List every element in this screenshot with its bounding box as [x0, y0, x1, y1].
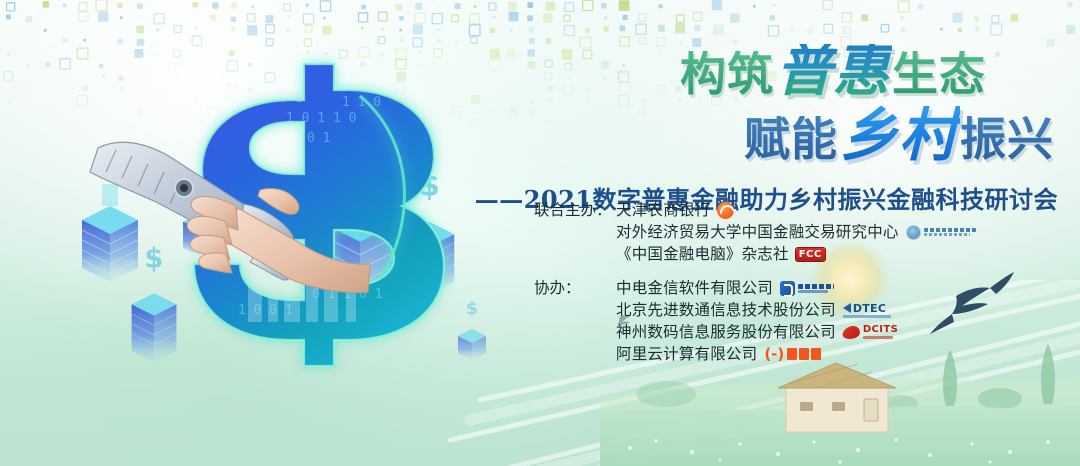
tjrcb-spiral-logo	[717, 202, 734, 219]
fcc-logo-text: FCC	[799, 249, 822, 260]
coorg-entry-2: 北京先进数通信息技术股份公司	[616, 298, 836, 320]
title-seg-puhui: 普惠	[774, 44, 892, 100]
title-block: 构筑普惠生态 赋能乡村振兴 ——2021数字普惠金融助力乡村振兴金融科技研讨会	[438, 44, 1058, 215]
aliyun-wordmark	[787, 348, 821, 360]
svg-text:1 0 1 1 0: 1 0 1 1 0	[286, 111, 356, 126]
cetc-wordmark-line1	[798, 284, 834, 289]
aliyun-glyph-2	[799, 348, 809, 360]
dtec-logo-text: DTEC	[853, 303, 886, 314]
coorg-row-3: 神州数码信息服务股份有限公司 DCITS	[534, 320, 976, 342]
uibe-seal-logo	[906, 225, 976, 240]
dtec-triangle-icon	[843, 303, 851, 313]
coorg-entry-3: 神州数码信息服务股份有限公司	[616, 320, 836, 342]
aliyun-glyph-3	[811, 348, 821, 360]
svg-text:0 1 0 0 1: 0 1 0 0 1	[260, 131, 330, 146]
coorg-entry-4: 阿里云计算有限公司	[616, 342, 757, 364]
host-row-3: 《中国金融电脑》杂志社 FCC	[534, 242, 976, 264]
cetc-wordmark-line2	[798, 290, 828, 293]
coorg-row-1: 协办： 中电金信软件有限公司	[534, 276, 976, 298]
title-seg-gouzhu: 构筑	[680, 51, 774, 97]
svg-text:$: $	[466, 299, 478, 319]
uibe-wordmark-line1	[924, 228, 976, 232]
aliyun-bracket-icon: (-)	[764, 347, 784, 362]
title-line-1: 构筑普惠生态	[438, 44, 986, 100]
host-group: 联合主办： 天津农商银行 对外经济贸易大学中国金融交易研究中心 《中国金融电脑》…	[534, 198, 976, 264]
aliyun-logo: (-)	[764, 347, 821, 362]
dcits-swirl-icon	[841, 326, 861, 339]
dtec-logo-subtext	[843, 315, 891, 318]
uibe-wordmark	[924, 228, 976, 236]
dcits-logo-text: DCITS	[863, 325, 898, 335]
dtec-logo: DTEC	[843, 303, 891, 318]
uibe-seal-mark	[906, 225, 921, 240]
host-label: 联合主办：	[534, 198, 616, 220]
title-seg-funeng: 赋能	[744, 116, 838, 162]
uibe-wordmark-line2	[924, 233, 970, 236]
cetc-wordmark	[798, 284, 834, 293]
cetc-mark	[780, 281, 795, 296]
host-entry-2: 对外经济贸易大学中国金融交易研究中心	[616, 220, 899, 242]
title-seg-shengtai: 生态	[892, 51, 986, 97]
coorg-row-2: 北京先进数通信息技术股份公司 DTEC	[534, 298, 976, 320]
title-seg-xiangcun: 乡村	[838, 106, 960, 164]
aliyun-glyph-1	[787, 348, 797, 360]
coorganizer-group: 协办： 中电金信软件有限公司 北京先进数通信息技术股份公司 DTEC	[534, 276, 976, 364]
cetc-gintech-logo	[780, 281, 834, 296]
coorganizer-label: 协办：	[534, 276, 616, 298]
title-seg-zhenxing: 振兴	[960, 116, 1054, 162]
credits-block: 联合主办： 天津农商银行 对外经济贸易大学中国金融交易研究中心 《中国金融电脑》…	[534, 198, 976, 376]
host-row-2: 对外经济贸易大学中国金融交易研究中心	[534, 220, 976, 242]
dcits-wordmark: DCITS	[863, 325, 898, 339]
dtec-logo-row: DTEC	[843, 303, 886, 314]
host-row-1: 联合主办： 天津农商银行	[534, 198, 976, 220]
coorg-row-4: 阿里云计算有限公司 (-)	[534, 342, 976, 364]
host-entry-1: 天津农商银行	[616, 198, 710, 220]
dcits-logo-subtext	[863, 336, 893, 339]
dcits-logo: DCITS	[843, 325, 898, 339]
event-banner: $ $	[0, 0, 1080, 466]
svg-text:$: $	[144, 244, 163, 275]
fcc-logo: FCC	[796, 248, 825, 261]
title-line-2: 赋能乡村振兴	[438, 106, 1054, 164]
coorg-entry-1: 中电金信软件有限公司	[616, 276, 773, 298]
host-entry-3: 《中国金融电脑》杂志社	[616, 242, 789, 264]
